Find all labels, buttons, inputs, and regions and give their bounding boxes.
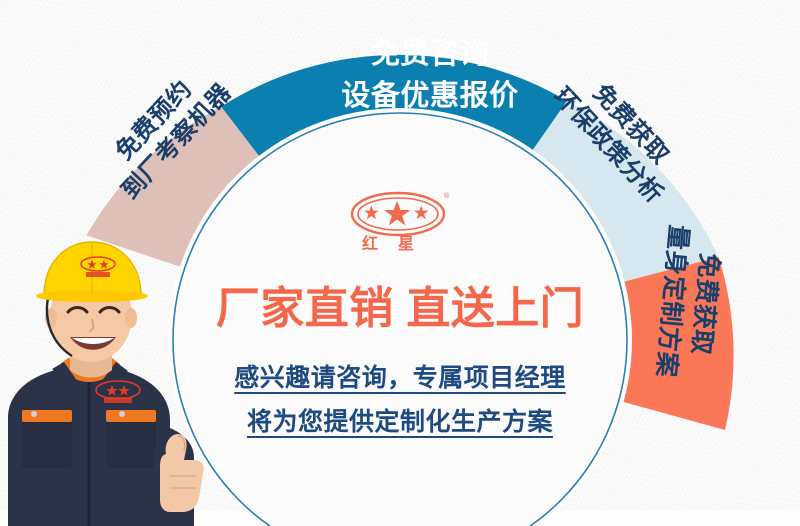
pocket-flap-left	[22, 410, 72, 422]
subline-2: 将为您提供定制化生产方案	[180, 402, 620, 438]
pocket-left	[22, 414, 72, 468]
subline-1: 感兴趣请咨询，专属项目经理	[180, 358, 620, 394]
worker-thumbs-up-hand	[160, 434, 204, 512]
logo-brand-text: 红星	[362, 234, 434, 253]
subline-2-text: 将为您提供定制化生产方案	[247, 408, 553, 436]
logo-stars	[364, 201, 429, 226]
subline-1-text: 感兴趣请咨询，专属项目经理	[234, 364, 566, 392]
worker-illustration	[0, 238, 212, 526]
promo-banner: 免费预约 到厂考察机器 免费咨询 设备优惠报价 免费获取 环保政策分析 免费获取…	[0, 0, 800, 526]
pocket-button-left	[31, 411, 37, 417]
pocket-flap-right	[106, 410, 156, 422]
worker-ear-right	[125, 308, 137, 328]
hongxing-logo: ® 红星	[343, 186, 457, 258]
hongxing-logo-graphic: ® 红星	[343, 186, 457, 258]
smiling-worker-thumbs-up	[0, 238, 212, 526]
page-headline: 厂家直销 直送上门	[200, 272, 600, 336]
registered-mark: ®	[444, 192, 450, 200]
pocket-button-right	[119, 411, 125, 417]
pocket-right	[106, 414, 156, 468]
